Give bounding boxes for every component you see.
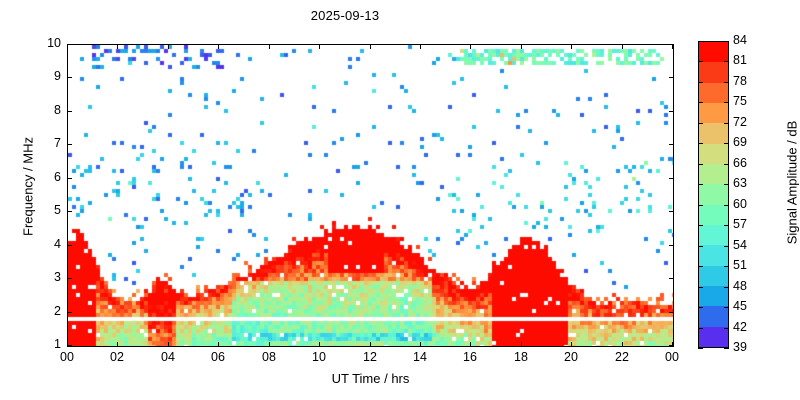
colorbar-tick bbox=[724, 205, 729, 206]
y-tick bbox=[67, 278, 72, 279]
y-tick bbox=[67, 178, 72, 179]
x-tick-label: 04 bbox=[148, 350, 188, 364]
colorbar-tick bbox=[698, 205, 703, 206]
y-tick bbox=[669, 211, 674, 212]
x-tick bbox=[571, 342, 572, 347]
x-tick bbox=[319, 44, 320, 49]
y-tick bbox=[669, 312, 674, 313]
colorbar-tick bbox=[724, 102, 729, 103]
spectrogram-canvas[interactable] bbox=[68, 45, 673, 346]
x-tick-label: 20 bbox=[551, 350, 591, 364]
y-tick-label: 2 bbox=[17, 304, 61, 318]
x-tick-label: 14 bbox=[400, 350, 440, 364]
colorbar-segment bbox=[699, 42, 728, 62]
y-tick bbox=[669, 178, 674, 179]
colorbar-tick bbox=[698, 348, 703, 349]
colorbar-tick-label: 63 bbox=[733, 176, 747, 190]
y-tick bbox=[67, 44, 72, 45]
x-tick bbox=[571, 44, 572, 49]
x-tick-label: 08 bbox=[249, 350, 289, 364]
x-tick-label: 22 bbox=[602, 350, 642, 364]
colorbar-tick-label: 54 bbox=[733, 238, 747, 252]
colorbar-tick-label: 81 bbox=[733, 53, 747, 67]
colorbar-segment bbox=[699, 306, 728, 326]
x-tick bbox=[420, 342, 421, 347]
colorbar-segment bbox=[699, 327, 728, 347]
colorbar-tick-label: 66 bbox=[733, 156, 747, 170]
colorbar-segment bbox=[699, 245, 728, 265]
colorbar-tick-label: 42 bbox=[733, 320, 747, 334]
chart-title: 2025-09-13 bbox=[0, 8, 690, 23]
x-tick bbox=[117, 342, 118, 347]
colorbar-segment bbox=[699, 144, 728, 164]
colorbar-tick-label: 39 bbox=[733, 340, 747, 354]
colorbar-tick bbox=[724, 307, 729, 308]
x-tick-label: 02 bbox=[97, 350, 137, 364]
colorbar-tick bbox=[698, 184, 703, 185]
y-tick bbox=[67, 77, 72, 78]
y-tick bbox=[669, 245, 674, 246]
x-tick bbox=[319, 342, 320, 347]
y-tick bbox=[67, 245, 72, 246]
colorbar-tick-label: 48 bbox=[733, 279, 747, 293]
colorbar-segment bbox=[699, 123, 728, 143]
y-tick bbox=[67, 144, 72, 145]
y-tick-label: 9 bbox=[17, 69, 61, 83]
colorbar-tick bbox=[724, 123, 729, 124]
colorbar-tick bbox=[698, 123, 703, 124]
y-tick bbox=[67, 345, 72, 346]
colorbar-tick bbox=[698, 164, 703, 165]
y-tick bbox=[669, 44, 674, 45]
colorbar-tick-label: 45 bbox=[733, 299, 747, 313]
colorbar-tick bbox=[724, 246, 729, 247]
colorbar-segment bbox=[699, 184, 728, 204]
colorbar-tick bbox=[698, 266, 703, 267]
colorbar-segment bbox=[699, 83, 728, 103]
x-tick-label: 16 bbox=[450, 350, 490, 364]
colorbar-tick bbox=[698, 225, 703, 226]
x-tick-label: 00 bbox=[47, 350, 87, 364]
x-tick-label: 00 bbox=[652, 350, 692, 364]
colorbar-tick bbox=[698, 287, 703, 288]
colorbar-tick bbox=[724, 61, 729, 62]
colorbar-tick bbox=[724, 266, 729, 267]
colorbar-tick-label: 51 bbox=[733, 258, 747, 272]
colorbar-tick bbox=[698, 102, 703, 103]
ionogram-figure: 2025-09-13 00020406081012141618202200 12… bbox=[0, 0, 800, 400]
colorbar-segment bbox=[699, 266, 728, 286]
colorbar-tick bbox=[698, 307, 703, 308]
y-tick bbox=[669, 111, 674, 112]
x-tick bbox=[168, 342, 169, 347]
colorbar-title: Signal Amplitude / dB bbox=[785, 83, 800, 283]
colorbar-tick bbox=[698, 143, 703, 144]
colorbar-tick bbox=[698, 246, 703, 247]
colorbar-tick-label: 60 bbox=[733, 197, 747, 211]
x-tick bbox=[269, 44, 270, 49]
x-tick bbox=[168, 44, 169, 49]
colorbar-tick-label: 69 bbox=[733, 135, 747, 149]
x-tick bbox=[218, 44, 219, 49]
y-tick bbox=[669, 278, 674, 279]
colorbar-tick bbox=[698, 61, 703, 62]
colorbar-segment bbox=[699, 225, 728, 245]
colorbar-tick-label: 75 bbox=[733, 94, 747, 108]
x-tick-label: 10 bbox=[299, 350, 339, 364]
y-tick bbox=[67, 111, 72, 112]
colorbar-tick-label: 78 bbox=[733, 74, 747, 88]
colorbar-tick bbox=[724, 328, 729, 329]
x-tick bbox=[622, 44, 623, 49]
colorbar-tick bbox=[724, 287, 729, 288]
y-tick-label: 1 bbox=[17, 337, 61, 351]
plot-area[interactable] bbox=[67, 44, 674, 347]
x-tick bbox=[622, 342, 623, 347]
colorbar-tick bbox=[724, 184, 729, 185]
y-tick bbox=[669, 144, 674, 145]
colorbar-tick bbox=[698, 328, 703, 329]
colorbar-tick bbox=[724, 225, 729, 226]
colorbar-tick bbox=[724, 143, 729, 144]
x-tick bbox=[370, 44, 371, 49]
colorbar-tick bbox=[698, 82, 703, 83]
colorbar-segment bbox=[699, 62, 728, 82]
x-tick bbox=[218, 342, 219, 347]
colorbar-tick bbox=[724, 164, 729, 165]
x-tick-label: 06 bbox=[198, 350, 238, 364]
x-tick-label: 18 bbox=[501, 350, 541, 364]
colorbar-segment bbox=[699, 286, 728, 306]
x-tick bbox=[117, 44, 118, 49]
y-axis-label: Frequency / MHz bbox=[21, 97, 36, 277]
colorbar-tick bbox=[724, 348, 729, 349]
colorbar-tick-label: 57 bbox=[733, 217, 747, 231]
colorbar-segment bbox=[699, 205, 728, 225]
y-tick-label: 10 bbox=[17, 36, 61, 50]
colorbar-tick-label: 84 bbox=[733, 33, 747, 47]
x-tick bbox=[420, 44, 421, 49]
x-tick bbox=[470, 44, 471, 49]
x-tick bbox=[521, 44, 522, 49]
colorbar-segment bbox=[699, 164, 728, 184]
x-tick bbox=[521, 342, 522, 347]
x-tick bbox=[370, 342, 371, 347]
y-tick bbox=[67, 312, 72, 313]
colorbar-segment bbox=[699, 103, 728, 123]
colorbar[interactable] bbox=[698, 41, 729, 348]
y-tick bbox=[67, 211, 72, 212]
x-axis-label: UT Time / hrs bbox=[67, 371, 674, 386]
x-tick bbox=[470, 342, 471, 347]
x-tick-label: 12 bbox=[350, 350, 390, 364]
colorbar-tick bbox=[724, 82, 729, 83]
colorbar-tick-label: 72 bbox=[733, 115, 747, 129]
y-tick bbox=[669, 77, 674, 78]
x-tick bbox=[269, 342, 270, 347]
y-tick bbox=[669, 345, 674, 346]
